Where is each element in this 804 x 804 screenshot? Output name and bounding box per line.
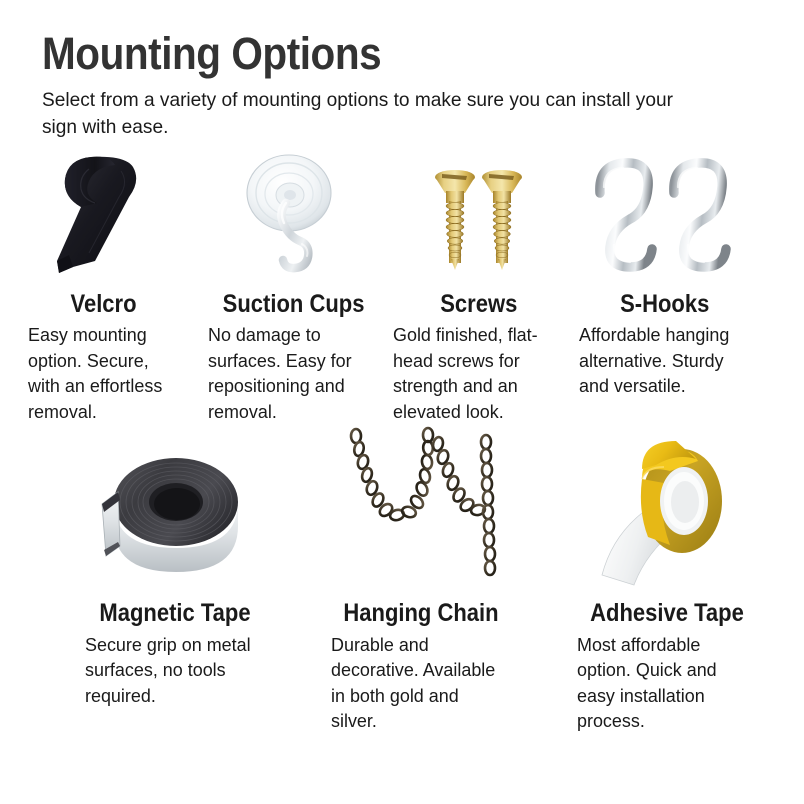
option-title: S-Hooks bbox=[620, 291, 709, 319]
option-description: Affordable hanging alternative. Sturdy a… bbox=[579, 322, 746, 399]
page-subtitle: Select from a variety of mounting option… bbox=[42, 87, 708, 141]
option-description: Gold finished, flat-head screws for stre… bbox=[393, 322, 560, 424]
option-card-adhesive-tape: Adhesive Tape Most affordable option. Qu… bbox=[544, 430, 790, 734]
option-description: No damage to surfaces. Easy for repositi… bbox=[208, 322, 375, 424]
option-card-hanging-chain: Hanging Chain Durable and decorative. Av… bbox=[298, 430, 544, 734]
option-description: Durable and decorative. Available in bot… bbox=[331, 632, 506, 734]
option-title: Magnetic Tape bbox=[67, 600, 283, 628]
option-title: Suction Cups bbox=[223, 291, 365, 319]
adhesive-tape-roll-image bbox=[572, 430, 762, 590]
option-title: Adhesive Tape bbox=[559, 600, 775, 628]
option-title: Hanging Chain bbox=[313, 600, 529, 628]
options-row-1: Velcro Easy mounting option. Secure, wit… bbox=[0, 149, 804, 425]
option-card-magnetic-tape: Magnetic Tape Secure grip on metal surfa… bbox=[52, 430, 298, 734]
suction-cup-hook-image bbox=[224, 149, 364, 277]
magnetic-tape-roll-image bbox=[80, 430, 270, 590]
mounting-options-infographic: Mounting Options Select from a variety o… bbox=[0, 0, 804, 804]
header: Mounting Options Select from a variety o… bbox=[0, 0, 804, 141]
option-title: Screws bbox=[440, 291, 517, 319]
option-description: Secure grip on metal surfaces, no tools … bbox=[85, 632, 260, 709]
page-title: Mounting Options bbox=[42, 30, 690, 79]
option-description: Most affordable option. Quick and easy i… bbox=[577, 632, 752, 734]
option-description: Easy mounting option. Secure, with an ef… bbox=[28, 322, 175, 424]
option-title: Velcro bbox=[71, 291, 137, 319]
s-hooks-image bbox=[590, 149, 740, 277]
option-card-s-hooks: S-Hooks Affordable hanging alternative. … bbox=[572, 149, 758, 425]
hanging-chain-image bbox=[326, 430, 516, 590]
gold-screws-image bbox=[409, 149, 549, 277]
options-row-2: Magnetic Tape Secure grip on metal surfa… bbox=[0, 430, 804, 734]
velcro-strap-image bbox=[29, 149, 179, 277]
option-card-screws: Screws Gold finished, flat-head screws f… bbox=[386, 149, 572, 425]
option-card-velcro: Velcro Easy mounting option. Secure, wit… bbox=[0, 149, 200, 425]
option-card-suction-cups: Suction Cups No damage to surfaces. Easy… bbox=[200, 149, 386, 425]
